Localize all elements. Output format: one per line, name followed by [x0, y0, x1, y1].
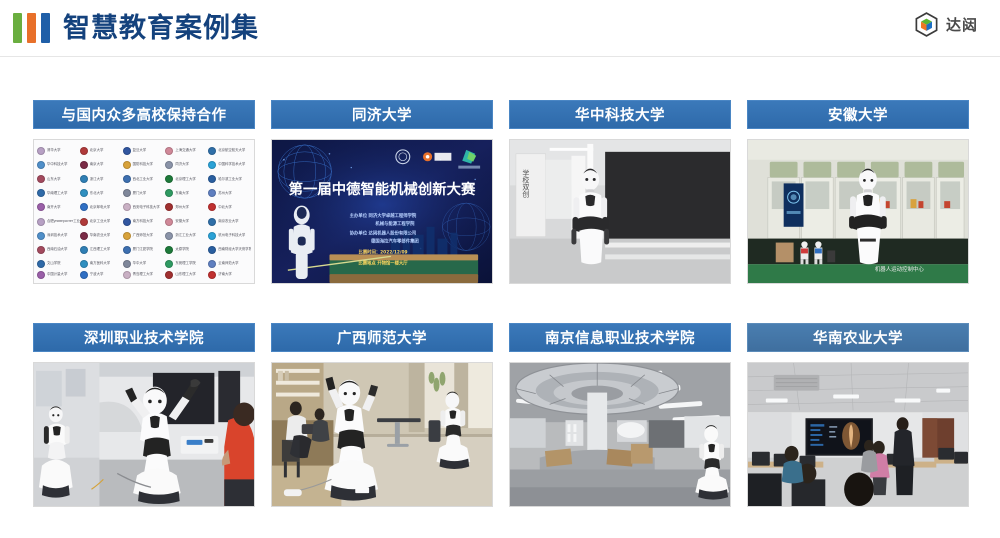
university-name-label: 华中大学 [133, 262, 147, 265]
university-seal-icon [123, 271, 131, 279]
university-seal-icon [37, 147, 45, 155]
university-name-label: 杭州电子科技大学 [218, 234, 245, 237]
university-name-label: 东南大学 [175, 192, 189, 195]
university-name-label: 哈尔滨工业大学 [218, 178, 242, 181]
university-seal-icon [165, 260, 173, 268]
university-seal-icon [165, 218, 173, 226]
university-name-label: 深圳技术大学 [47, 234, 67, 237]
university-logo-item: 苏州大学 [208, 186, 251, 200]
university-name-label: 南京大学 [90, 163, 104, 166]
accent-bar-orange [27, 13, 36, 43]
accent-bar-blue [41, 13, 50, 43]
university-name-label: 郑州大学 [175, 206, 189, 209]
university-seal-icon [208, 218, 216, 226]
university-logo-item: 深圳技术大学 [37, 229, 80, 243]
case-card-partners[interactable]: 与国内众多高校保持合作 清华大学北京大学复旦大学上海交通大学北京航空航天大学华中… [33, 100, 255, 284]
brand-accent-bars [13, 13, 50, 43]
university-logo-item: 浙江大学 [80, 172, 123, 186]
brand-logo: 达闼 [913, 11, 978, 38]
wall-sign-text: 学校双创 [521, 169, 529, 199]
university-seal-icon [208, 147, 216, 155]
event-banner-image: 第一届中德智能机械创新大赛 主办单位 同济大学卓越工程师学院 机械与能源工程学院… [271, 139, 493, 284]
university-name-label: 复旦大学 [133, 149, 147, 152]
university-logo-wall: 清华大学北京大学复旦大学上海交通大学北京航空航天大学华中科技大学南京大学国防科技… [34, 140, 254, 283]
case-card-title: 南京信息职业技术学院 [509, 323, 731, 352]
svg-text:主办单位 同济大学卓越工程师学院: 主办单位 同济大学卓越工程师学院 [350, 212, 417, 219]
university-name-label: 宁波大学 [90, 273, 104, 276]
university-seal-icon [80, 271, 88, 279]
university-seal-icon [80, 175, 88, 183]
case-card-title: 广西师范大学 [271, 323, 493, 352]
hust-photo-artwork: 学校双创 [510, 140, 730, 283]
university-name-label: 国防科技大学 [133, 163, 153, 166]
university-logo-item: 东北大学 [80, 186, 123, 200]
case-card-szpt[interactable]: 深圳职业技术学院 [33, 323, 255, 507]
svg-text:机械与能源工程学院: 机械与能源工程学院 [375, 220, 415, 227]
university-name-label: 青岛理工大学 [133, 273, 153, 276]
university-logo-item: 山东理工大学 [165, 271, 208, 279]
university-name-label: 上海交通大学 [175, 149, 195, 152]
gxnu-photo-image [271, 362, 493, 507]
university-seal-icon [37, 218, 45, 226]
university-logo-item: 华中大学 [123, 257, 166, 271]
case-card-tongji[interactable]: 同济大学 [271, 100, 493, 284]
university-logo-item: 厦门大学 [123, 186, 166, 200]
szpt-photo-image [33, 362, 255, 507]
university-logo-item: 同济大学 [165, 158, 208, 172]
university-name-label: 安徽大学 [175, 220, 189, 223]
brand-logo-text: 达闼 [946, 14, 978, 35]
university-name-label: 中国计量大学 [47, 273, 67, 276]
university-seal-icon [37, 232, 45, 240]
university-name-label: 中国科学技术大学 [218, 163, 245, 166]
university-name-label: 北京理工大学 [175, 178, 195, 181]
university-logo-item: 北京大学 [80, 144, 123, 158]
university-seal-icon [208, 161, 216, 169]
university-name-label: 华南理工大学 [47, 192, 67, 195]
university-seal-icon [165, 147, 173, 155]
university-name-label: 北京邮电大学 [90, 206, 110, 209]
university-logo-item: 上海交通大学 [165, 144, 208, 158]
university-seal-icon [37, 175, 45, 183]
university-name-label: 南开大学 [47, 206, 61, 209]
university-name-label: 北京航空航天大学 [218, 149, 245, 152]
university-name-label: 华南农业大学 [90, 234, 110, 237]
university-name-label: 南京农业大学 [218, 220, 238, 223]
university-name-label: 合肥университет工业大学 [47, 220, 80, 223]
university-seal-icon [37, 260, 45, 268]
university-logo-item: 哈尔滨工业大学 [208, 172, 251, 186]
university-seal-icon [208, 175, 216, 183]
university-seal-icon [37, 271, 45, 279]
university-logo-item: 西安电子科技大学 [123, 200, 166, 214]
university-seal-icon [208, 203, 216, 211]
university-seal-icon [37, 246, 45, 254]
university-name-label: 西安电子科技大学 [133, 206, 160, 209]
university-name-label: 东莞理工学院 [175, 262, 195, 265]
university-seal-icon [123, 232, 131, 240]
university-seal-icon [123, 260, 131, 268]
university-logo-item: 宁波大学 [80, 271, 123, 279]
university-name-label: 同济大学 [175, 163, 189, 166]
university-seal-icon [208, 189, 216, 197]
szpt-photo-artwork [34, 363, 254, 506]
university-name-label: 太原学院 [175, 248, 189, 251]
header-divider [0, 56, 1000, 57]
university-logo-item: 太原学院 [165, 243, 208, 257]
university-seal-icon [165, 189, 173, 197]
university-logo-item: 中国科学技术大学 [208, 158, 251, 172]
university-logo-item: 中国计量大学 [37, 271, 80, 279]
university-name-label: 山东大学 [47, 178, 61, 181]
university-seal-icon [208, 246, 216, 254]
university-name-label: 西南石油大学 [47, 248, 67, 251]
university-seal-icon [80, 232, 88, 240]
university-logo-item: 江西理工大学 [80, 243, 123, 257]
case-card-title: 与国内众多高校保持合作 [33, 100, 255, 129]
university-name-label: 清华大学 [47, 149, 61, 152]
university-logo-item: 国防科技大学 [123, 158, 166, 172]
university-seal-icon [165, 175, 173, 183]
university-logo-item: 南京农业大学 [208, 215, 251, 229]
university-name-label: 厦门大学 [133, 192, 147, 195]
university-name-label: 江西理工大学 [90, 248, 110, 251]
anhui-photo-artwork: 机器人运动控制中心 [748, 140, 968, 283]
university-name-label: 山东理工大学 [175, 273, 195, 276]
university-seal-icon [123, 161, 131, 169]
svg-text:德国海拉汽车零部件集团: 德国海拉汽车零部件集团 [371, 238, 419, 245]
page-header: 智慧教育案例集 达闼 [0, 0, 1000, 56]
university-seal-icon [37, 203, 45, 211]
floor-caption-text: 机器人运动控制中心 [875, 265, 924, 273]
case-card-njcit[interactable]: 南京信息职业技术学院 [509, 323, 731, 507]
case-card-grid: 与国内众多高校保持合作 清华大学北京大学复旦大学上海交通大学北京航空航天大学华中… [33, 100, 969, 507]
university-logo-item: 合肥университет工业大学 [37, 215, 80, 229]
university-logo-item: 西南石油大学 [37, 243, 80, 257]
gxnu-photo-artwork [272, 363, 492, 506]
university-name-label: 济南大学 [218, 273, 232, 276]
page-title: 智慧教育案例集 [63, 15, 259, 42]
university-seal-icon [80, 218, 88, 226]
university-name-label: 北京大学 [90, 149, 104, 152]
university-seal-icon [123, 189, 131, 197]
university-seal-icon [80, 189, 88, 197]
university-name-label: 华中科技大学 [47, 163, 67, 166]
university-logo-item: 东南大学 [165, 186, 208, 200]
university-seal-icon [123, 203, 131, 211]
banner-headline: 第一届中德智能机械创新大赛 [289, 180, 476, 198]
university-seal-icon [80, 260, 88, 268]
university-logo-item: 济南大学 [208, 271, 251, 279]
scau-photo-image [747, 362, 969, 507]
university-seal-icon [208, 232, 216, 240]
university-name-label: 广西师范大学 [133, 234, 153, 237]
university-logo-item: 中北大学 [208, 200, 251, 214]
accent-bar-green [13, 13, 22, 43]
case-card-hust[interactable]: 华中科技大学 [509, 100, 731, 284]
case-card-gxnu[interactable]: 广西师范大学 [271, 323, 493, 507]
university-name-label: 西北工业大学 [133, 178, 153, 181]
njcit-photo-artwork [510, 363, 730, 506]
university-name-label: 文山学院 [47, 262, 61, 265]
hust-photo-image: 学校双创 [509, 139, 731, 284]
university-seal-icon [80, 161, 88, 169]
university-seal-icon [80, 203, 88, 211]
university-logo-item: 文山学院 [37, 257, 80, 271]
university-seal-icon [165, 232, 173, 240]
svg-text:协办单位 达闼机器人股份有限公司: 协办单位 达闼机器人股份有限公司 [350, 230, 417, 237]
university-name-label: 中北大学 [218, 206, 232, 209]
scau-photo-artwork [748, 363, 968, 506]
university-logo-item: 安徽大学 [165, 215, 208, 229]
university-logo-item: 北京工业大学 [80, 215, 123, 229]
university-logo-item: 东莞理工学院 [165, 257, 208, 271]
university-name-label: 云南师范大学 [218, 262, 238, 265]
njcit-photo-image [509, 362, 731, 507]
university-logo-item: 南开大学 [37, 200, 80, 214]
university-seal-icon [123, 175, 131, 183]
svg-text:比赛时间：2022/12/09: 比赛时间：2022/12/09 [358, 248, 407, 255]
svg-text:比赛地点 开物馆一楼大厅: 比赛地点 开物馆一楼大厅 [358, 259, 408, 266]
anhui-photo-image: 机器人运动控制中心 [747, 139, 969, 284]
university-name-label: 厦门江夏学院 [133, 248, 153, 251]
case-card-title: 深圳职业技术学院 [33, 323, 255, 352]
university-name-label: 东北大学 [90, 192, 104, 195]
university-logo-item: 南方科技大学 [123, 215, 166, 229]
university-logo-item: 杭州电子科技大学 [208, 229, 251, 243]
case-card-title: 同济大学 [271, 100, 493, 129]
university-logo-item: 浙江工业大学 [165, 229, 208, 243]
university-logo-item: 华南理工大学 [37, 186, 80, 200]
university-logo-item: 北京邮电大学 [80, 200, 123, 214]
university-logo-item: 厦门江夏学院 [123, 243, 166, 257]
university-logo-item: 西北工业大学 [123, 172, 166, 186]
university-logo-item: 云南师范大学 [208, 257, 251, 271]
university-logo-item: 华中科技大学 [37, 158, 80, 172]
university-seal-icon [165, 246, 173, 254]
case-card-title: 安徽大学 [747, 100, 969, 129]
university-logo-item: 清华大学 [37, 144, 80, 158]
university-logo-item: 山东大学 [37, 172, 80, 186]
university-name-label: 北京工业大学 [90, 220, 110, 223]
university-logo-item: 青岛理工大学 [123, 271, 166, 279]
university-name-label: 浙江大学 [90, 178, 104, 181]
university-seal-icon [80, 246, 88, 254]
university-name-label: 苏州大学 [218, 192, 232, 195]
case-card-anhui[interactable]: 安徽大学 [747, 100, 969, 284]
event-banner-artwork: 第一届中德智能机械创新大赛 主办单位 同济大学卓越工程师学院 机械与能源工程学院… [272, 140, 492, 283]
university-seal-icon [208, 271, 216, 279]
university-name-label: 浙江工业大学 [175, 234, 195, 237]
university-logo-item: 南方医科大学 [80, 257, 123, 271]
case-card-title: 华南农业大学 [747, 323, 969, 352]
university-name-label: 西南财经大学天府学院 [218, 248, 251, 251]
university-seal-icon [165, 161, 173, 169]
university-logo-item: 南京大学 [80, 158, 123, 172]
university-seal-icon [123, 246, 131, 254]
university-logo-item: 北京理工大学 [165, 172, 208, 186]
university-logo-item: 广西师范大学 [123, 229, 166, 243]
university-seal-icon [37, 161, 45, 169]
university-logo-item: 华南农业大学 [80, 229, 123, 243]
university-seal-icon [80, 147, 88, 155]
university-seal-icon [208, 260, 216, 268]
university-logo-wall-image: 清华大学北京大学复旦大学上海交通大学北京航空航天大学华中科技大学南京大学国防科技… [33, 139, 255, 284]
university-logo-item: 郑州大学 [165, 200, 208, 214]
case-card-scau[interactable]: 华南农业大学 [747, 323, 969, 507]
university-seal-icon [37, 189, 45, 197]
university-seal-icon [165, 203, 173, 211]
university-logo-item: 复旦大学 [123, 144, 166, 158]
university-name-label: 南方科技大学 [133, 220, 153, 223]
university-name-label: 南方医科大学 [90, 262, 110, 265]
case-card-title: 华中科技大学 [509, 100, 731, 129]
university-seal-icon [123, 147, 131, 155]
university-seal-icon [123, 218, 131, 226]
university-seal-icon [165, 271, 173, 279]
university-logo-item: 北京航空航天大学 [208, 144, 251, 158]
university-logo-item: 西南财经大学天府学院 [208, 243, 251, 257]
dataa-cube-hexagon-logo-icon [913, 11, 940, 38]
